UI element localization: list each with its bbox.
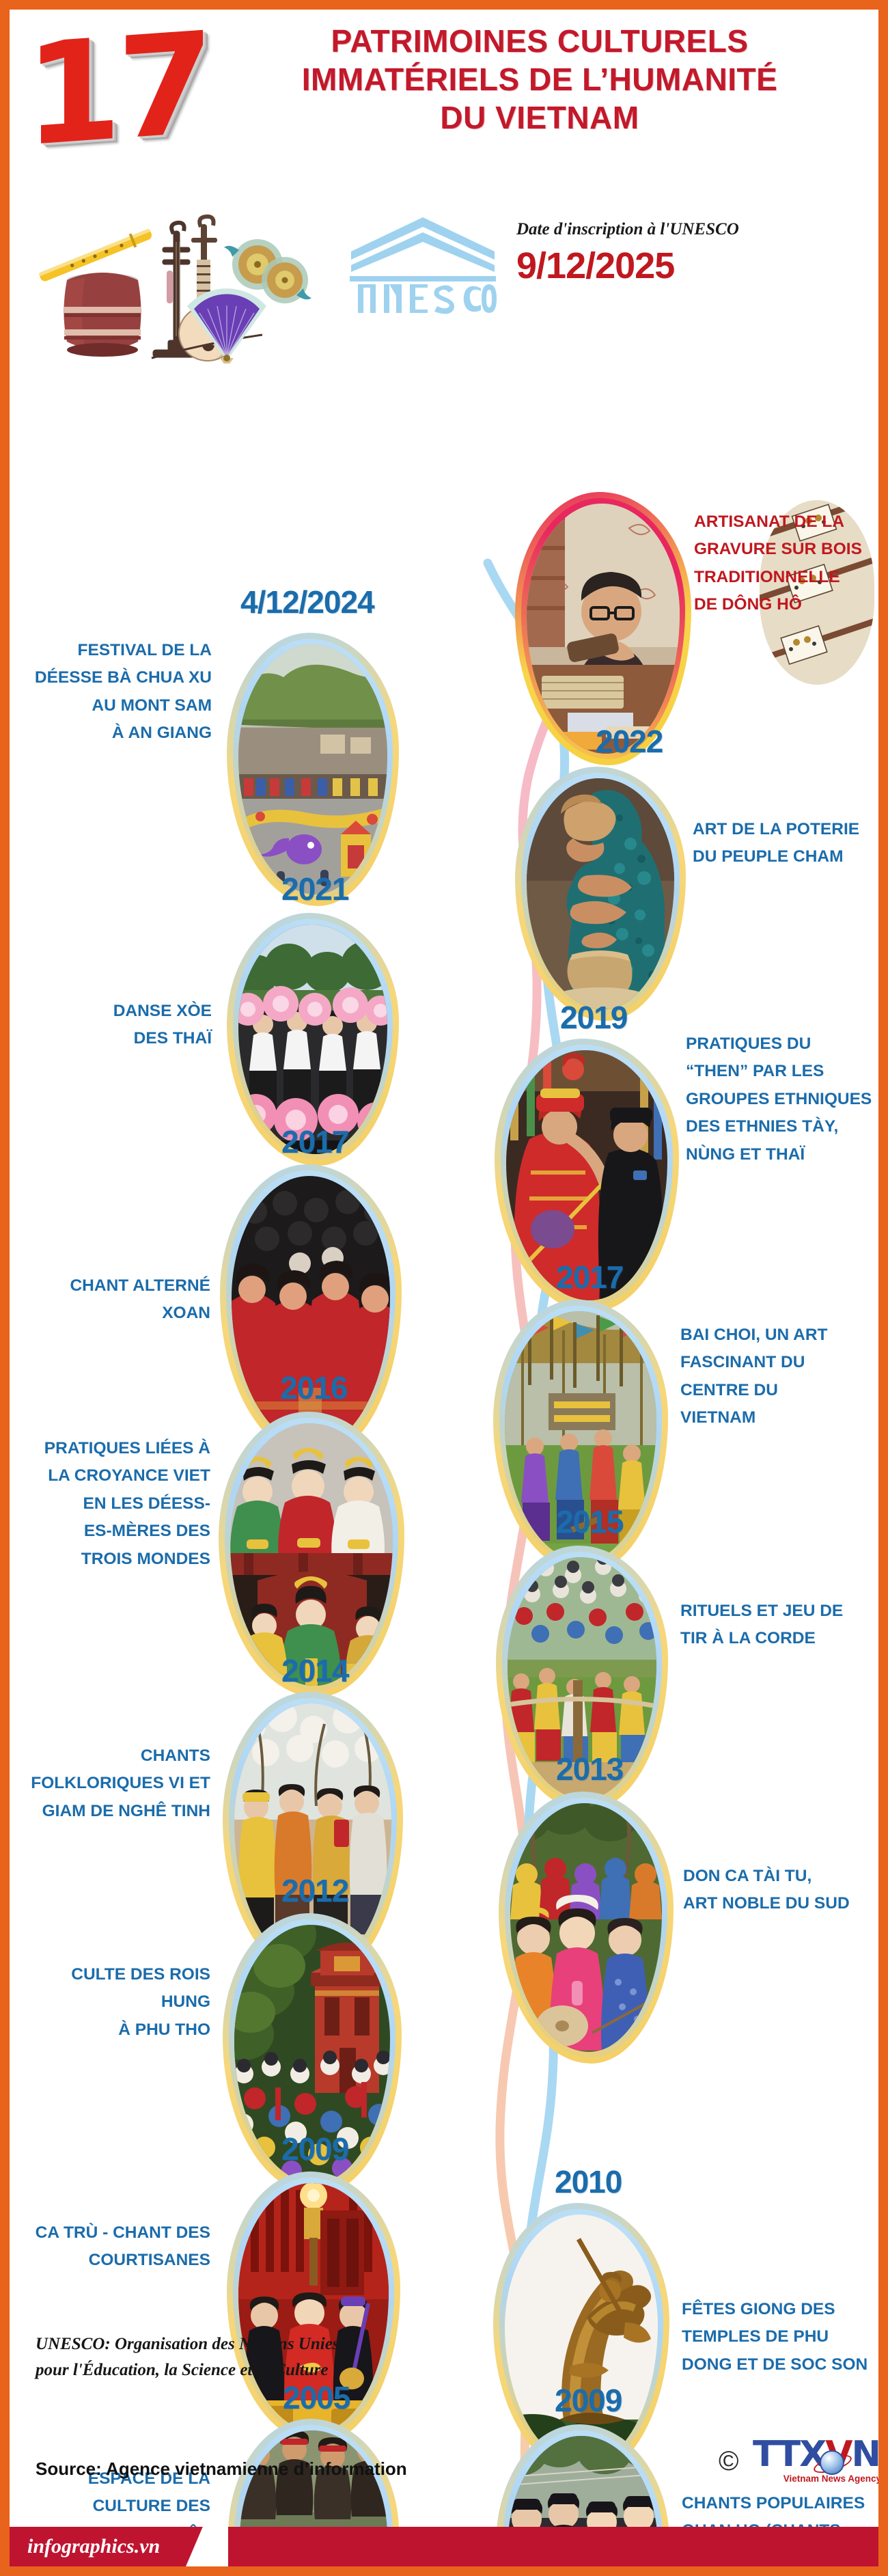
label-line: XOAN xyxy=(22,1300,210,1327)
label-line: FESTIVAL DE LA xyxy=(22,637,212,664)
label-line: DES THAÏ xyxy=(22,1025,212,1052)
label-line: DÉESSE BÀ CHUA XU xyxy=(22,664,212,691)
entry-label: CHANT ALTERNÉ XOAN xyxy=(22,1272,210,1328)
label-line: CA TRÙ - CHANT DES xyxy=(22,2219,210,2247)
photo-mother-goddess-worship xyxy=(230,1423,393,1686)
label-line: CENTRE DU xyxy=(680,1377,870,1404)
label-line: FASCINANT DU xyxy=(680,1349,870,1376)
label-line: CHANT ALTERNÉ xyxy=(22,1272,210,1300)
footnote-line: pour l'Éducation, la Science et la Cultu… xyxy=(36,2357,339,2383)
label-line: VIETNAM xyxy=(680,1404,870,1431)
entry-label: FÊTES GIONG DES TEMPLES DE PHU DONG ET D… xyxy=(682,2296,876,2379)
label-line: DON CA TÀI TU, xyxy=(683,1863,873,1890)
entry-year: 2017 xyxy=(281,1123,348,1160)
footnote-line: UNESCO: Organisation des Nations Unies xyxy=(36,2331,339,2357)
label-line: FOLKLORIQUES VI ET xyxy=(22,1770,210,1797)
label-line: TRADITIONNELLE xyxy=(694,564,877,591)
label-line: LA CROYANCE VIET xyxy=(22,1462,210,1490)
entry-year: 2013 xyxy=(556,1751,623,1787)
entry-year: 2022 xyxy=(596,723,663,760)
unesco-acronym-footnote: UNESCO: Organisation des Nations Unies p… xyxy=(36,2331,339,2383)
label-line: HUNG xyxy=(22,1988,210,2016)
label-line: PRATIQUES DU xyxy=(686,1030,876,1058)
entry-photo xyxy=(499,1792,674,2064)
label-line: TIR À LA CORDE xyxy=(680,1625,870,1652)
label-line: “THEN” PAR LES xyxy=(686,1058,876,1085)
instruments-svg xyxy=(22,200,316,364)
entry-year: 2014 xyxy=(281,1652,348,1689)
entry-year: 2019 xyxy=(560,999,627,1036)
entry-label: PRATIQUES LIÉES À LA CROYANCE VIET EN LE… xyxy=(22,1435,210,1573)
unesco-logo: UNESCO xyxy=(344,212,501,314)
poster-header: 17 PATRIMOINES CULTURELS IMMATÉRIELS DE … xyxy=(10,10,878,215)
title-line-1: PATRIMOINES CULTURELS xyxy=(214,22,865,60)
entry-label: CHANTS FOLKLORIQUES VI ET GIAM DE NGHÊ T… xyxy=(22,1742,210,1825)
label-line: À AN GIANG xyxy=(22,720,212,747)
entry-label: DON CA TÀI TU, ART NOBLE DU SUD xyxy=(683,1863,873,1918)
entry-year: 2016 xyxy=(280,1369,347,1406)
poster-canvas: 17 PATRIMOINES CULTURELS IMMATÉRIELS DE … xyxy=(10,10,878,2566)
entry-label: RITUELS ET JEU DE TIR À LA CORDE xyxy=(680,1598,870,1653)
entry-label: CA TRÙ - CHANT DES COURTISANES xyxy=(22,2219,210,2275)
ttxvn-word-n: N xyxy=(851,2434,878,2475)
label-line: GIAM DE NGHÊ TINH xyxy=(22,1798,210,1825)
label-line: DES ETHNIES TÀY, xyxy=(686,1113,876,1140)
title-line-2: IMMATÉRIELS DE L’HUMANITÉ xyxy=(214,60,865,98)
label-line: CULTE DES ROIS xyxy=(22,1961,210,1988)
label-line: CULTURE DES xyxy=(22,2493,210,2520)
ttxvn-logo: TTXVN Vietnam News Agency xyxy=(753,2437,878,2495)
label-line: PRATIQUES LIÉES À xyxy=(22,1435,210,1462)
photo-don-ca-tai-tu xyxy=(510,1803,662,2052)
label-line: CHANTS xyxy=(22,1742,210,1770)
label-line: DE DÔNG HÔ xyxy=(694,591,877,618)
label-line: DANSE XÒE xyxy=(22,998,212,1025)
photo-xoe-dance xyxy=(238,924,387,1154)
website-label: infographics.vn xyxy=(27,2535,160,2558)
label-line: TROIS MONDES xyxy=(22,1546,210,1573)
entry-label: CULTE DES ROIS HUNG À PHU THO xyxy=(22,1961,210,2044)
copyright-icon: © xyxy=(719,2448,738,2475)
label-line: GROUPES ETHNIQUES xyxy=(686,1086,876,1113)
ttxvn-tagline: Vietnam News Agency xyxy=(753,2474,878,2484)
globe-icon xyxy=(820,2450,844,2475)
photo-cham-pottery xyxy=(527,778,674,1009)
entry-year: 2005 xyxy=(283,2379,350,2416)
entry-photo xyxy=(227,633,399,906)
poster-frame: 17 PATRIMOINES CULTURELS IMMATÉRIELS DE … xyxy=(0,0,888,2576)
photo-ba-chua-xu-festival xyxy=(238,644,387,894)
heritage-count: 17 xyxy=(25,14,208,167)
entry-year: 2015 xyxy=(556,1503,623,1540)
label-line: À PHU THO xyxy=(22,2016,210,2044)
entry-year-2025: 9/12/2025 xyxy=(516,245,674,287)
label-line: AU MONT SAM xyxy=(22,692,212,720)
label-line: ART NOBLE DU SUD xyxy=(683,1890,873,1917)
entry-year: 2012 xyxy=(281,1872,348,1909)
entry-label: FESTIVAL DE LA DÉESSE BÀ CHUA XU AU MONT… xyxy=(22,637,212,748)
entry-year: 2017 xyxy=(556,1259,623,1296)
page-title: PATRIMOINES CULTURELS IMMATÉRIELS DE L’H… xyxy=(214,22,865,137)
label-line: TEMPLES DE PHU xyxy=(682,2323,876,2351)
entry-label: ART DE LA POTERIE DU PEUPLE CHAM xyxy=(693,816,876,871)
entry-year: 2009 xyxy=(281,2130,348,2167)
banner-notch xyxy=(186,2527,228,2566)
label-line: ART DE LA POTERIE xyxy=(693,816,876,843)
entry-label: ARTISANAT DE LA GRAVURE SUR BOIS TRADITI… xyxy=(694,508,877,619)
entry-year: 2009 xyxy=(555,2382,622,2419)
entry-label: DANSE XÒE DES THAÏ xyxy=(22,998,212,1053)
entry-label: PRATIQUES DU “THEN” PAR LES GROUPES ETHN… xyxy=(686,1030,876,1168)
source-credit: Source: Agence vietnamienne d’informatio… xyxy=(36,2458,407,2480)
label-line: EN LES DÉESS- xyxy=(22,1490,210,1518)
label-line: FÊTES GIONG DES xyxy=(682,2296,876,2323)
label-line: COURTISANES xyxy=(22,2247,210,2274)
title-line-3: DU VIETNAM xyxy=(214,98,865,137)
label-line: NÙNG ET THAÏ xyxy=(686,1141,876,1168)
label-line: DONG ET DE SOC SON xyxy=(682,2351,876,2379)
unesco-logo-svg xyxy=(344,212,501,314)
entry-year: 4/12/2024 xyxy=(240,584,374,620)
entry-photo xyxy=(515,767,686,1021)
label-line: GRAVURE SUR BOIS xyxy=(694,536,877,563)
entry-year: 2021 xyxy=(281,871,348,907)
bottom-banner: infographics.vn xyxy=(10,2527,878,2566)
label-line: DU PEUPLE CHAM xyxy=(693,843,876,871)
label-line: ARTISANAT DE LA xyxy=(694,508,877,536)
photo-woodblock-carver xyxy=(527,504,680,754)
label-line: BAI CHOI, UN ART xyxy=(680,1321,870,1349)
entry-year: 2010 xyxy=(555,2163,622,2200)
traditional-instruments-illustration xyxy=(22,200,316,364)
label-line: RITUELS ET JEU DE xyxy=(680,1598,870,1625)
label-line: ES-MÈRES DES xyxy=(22,1518,210,1545)
date-caption: Date d'inscription à l'UNESCO xyxy=(516,220,739,239)
entry-label: BAI CHOI, UN ART FASCINANT DU CENTRE DU … xyxy=(680,1321,870,1432)
